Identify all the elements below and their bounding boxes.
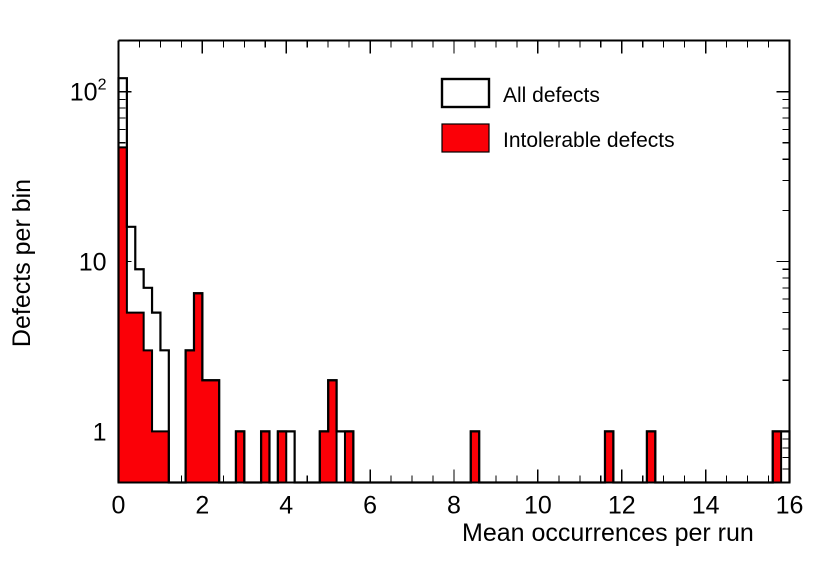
- legend-label-all-defects: All defects: [503, 84, 600, 107]
- x-tick-label-8: 8: [447, 492, 461, 520]
- legend-label-intolerable-defects: Intolerable defects: [503, 129, 675, 152]
- y-tick-label-1: 1: [93, 418, 107, 446]
- x-axis-title: Mean occurrences per run: [462, 519, 754, 547]
- chart-figure: 0246810121416 110102 All defects Intoler…: [0, 0, 830, 563]
- x-tick-label-10: 10: [524, 492, 552, 520]
- histogram-defects-per-bin: 0246810121416 110102 All defects Intoler…: [0, 0, 830, 563]
- x-tick-label-12: 12: [608, 492, 636, 520]
- legend-swatch-intolerable-defects: [442, 124, 489, 152]
- legend-swatch-all-defects: [442, 79, 489, 107]
- x-tick-label-16: 16: [776, 492, 804, 520]
- x-tick-label-6: 6: [363, 492, 377, 520]
- x-tick-label-0: 0: [112, 492, 126, 520]
- x-tick-label-14: 14: [692, 492, 720, 520]
- y-axis-title: Defects per bin: [8, 179, 36, 347]
- y-tick-label-10: 10: [79, 249, 107, 277]
- x-tick-label-4: 4: [279, 492, 293, 520]
- x-tick-label-2: 2: [195, 492, 209, 520]
